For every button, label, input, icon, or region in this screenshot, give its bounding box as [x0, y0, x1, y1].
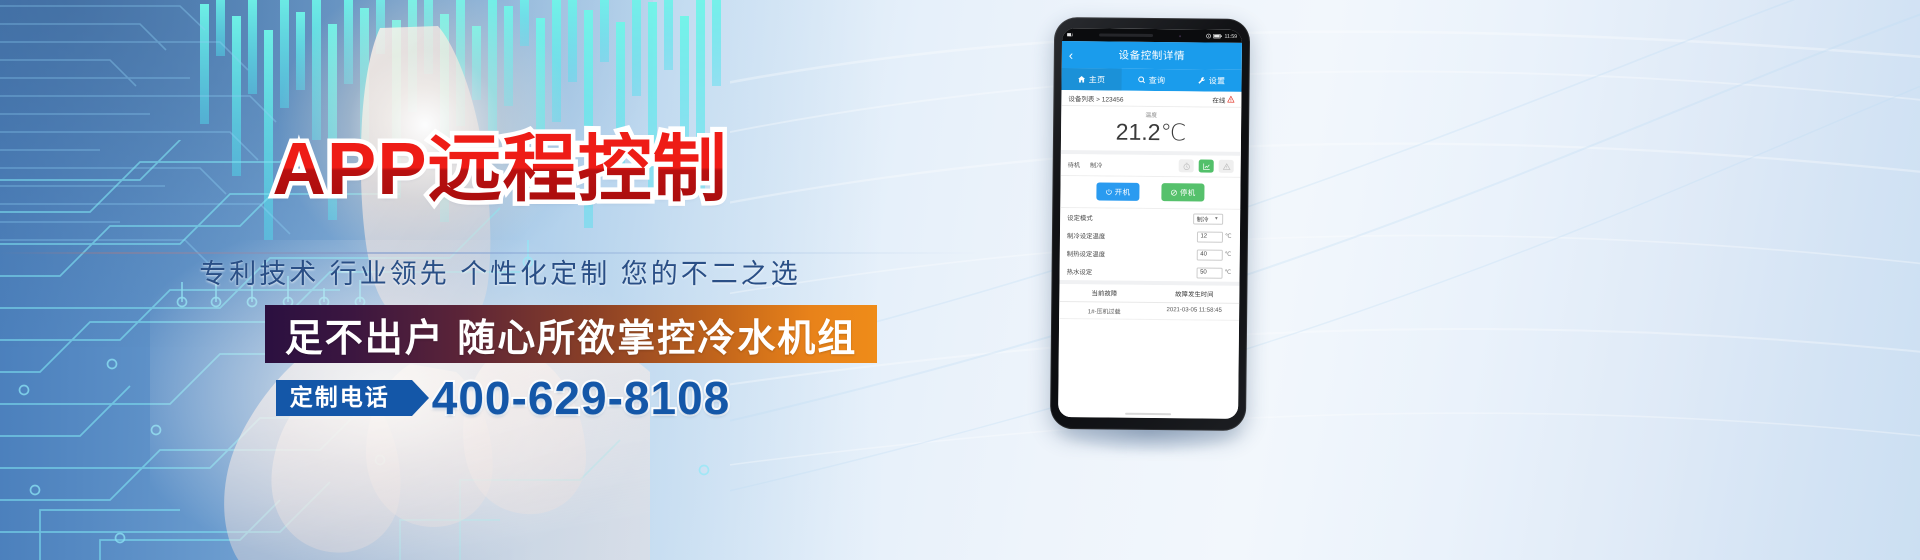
setting-row-mode: 设定模式 制冷 ▼	[1060, 208, 1240, 228]
setting-label-heat-temp: 制热设定温度	[1067, 249, 1105, 258]
run-state-label: 待机	[1068, 161, 1080, 170]
status-bar-right: 11:59	[1206, 33, 1237, 39]
phone-mockup: 11:59 ‹ 设备控制详情 主页	[1050, 17, 1254, 449]
contact-line: 定制电话 400-629-8108	[0, 375, 1000, 421]
chart-icon	[1202, 162, 1210, 170]
phone-screen: 11:59 ‹ 设备控制详情 主页	[1058, 28, 1242, 419]
power-button-row: 开机 停机	[1060, 176, 1240, 210]
tab-home-label: 主页	[1089, 74, 1106, 85]
breadcrumb: 设备列表 > 123456 在线	[1061, 90, 1241, 108]
status-bar-left	[1067, 32, 1073, 37]
chart-icon-button[interactable]	[1199, 160, 1214, 173]
breadcrumb-path[interactable]: 设备列表 > 123456	[1068, 93, 1123, 104]
ribbon-text: 足不出户 随心所欲掌控冷水机组	[285, 307, 858, 362]
setting-row-hot-water: 热水设定 50 ℃	[1059, 262, 1239, 282]
hot-water-input[interactable]: 50	[1196, 267, 1222, 278]
banner-stage: APP远程控制 APP远程控制 专利技术 行业领先 个性化定制 您的不二之选 足…	[0, 0, 1920, 560]
setting-value-heat-temp: 40 ℃	[1196, 249, 1233, 260]
battery-icon	[1213, 34, 1222, 39]
setting-value-mode: 制冷 ▼	[1193, 213, 1234, 224]
phone-tag-label: 定制电话	[276, 380, 412, 416]
fault-table: 当前故障 故障发生时间 1#-压机过载 2021-03-05 11:58:45	[1058, 284, 1239, 418]
setting-label-mode: 设定模式	[1067, 213, 1093, 222]
front-camera	[1179, 35, 1181, 37]
fault-cell-time: 2021-03-05 11:58:45	[1149, 307, 1239, 317]
tab-settings-label: 设置	[1209, 75, 1226, 86]
tab-settings[interactable]: 设置	[1181, 69, 1241, 92]
temperature-value: 21.2℃	[1061, 118, 1241, 146]
mode-state-label: 制冷	[1090, 161, 1102, 170]
device-status: 在线	[1212, 94, 1234, 104]
search-icon	[1138, 76, 1146, 84]
mode-select-value: 制冷	[1197, 214, 1209, 223]
hot-water-unit: ℃	[1225, 270, 1233, 276]
timer-icon	[1182, 162, 1190, 170]
setting-row-heat-temp: 制热设定温度 40 ℃	[1060, 244, 1240, 264]
subtitle: 专利技术 行业领先 个性化定制 您的不二之选	[0, 252, 1000, 291]
tab-home[interactable]: 主页	[1061, 68, 1121, 91]
setting-label-hot-water: 热水设定	[1067, 267, 1093, 276]
app-bar: ‹ 设备控制详情	[1062, 41, 1242, 70]
alarm-icon-button[interactable]	[1219, 160, 1234, 173]
tab-query[interactable]: 查询	[1121, 69, 1181, 92]
table-row[interactable]: 1#-压机过载 2021-03-05 11:58:45	[1059, 302, 1239, 321]
fault-col-current: 当前故障	[1059, 288, 1149, 298]
marketing-copy: APP远程控制 APP远程控制 专利技术 行业领先 个性化定制 您的不二之选 足…	[0, 0, 1000, 560]
home-icon	[1078, 75, 1086, 83]
timer-icon-button[interactable]	[1179, 160, 1194, 173]
device-state-row: 待机 制冷	[1061, 154, 1241, 178]
phone-body: 11:59 ‹ 设备控制详情 主页	[1050, 17, 1250, 431]
chevron-left-icon[interactable]: ‹	[1069, 48, 1073, 61]
power-icon	[1105, 188, 1112, 195]
wrench-icon	[1198, 76, 1206, 84]
power-off-label: 停机	[1180, 187, 1196, 198]
highlight-ribbon: 足不出户 随心所欲掌控冷水机组	[265, 305, 877, 363]
stop-icon	[1170, 189, 1177, 196]
fault-table-header: 当前故障 故障发生时间	[1059, 284, 1239, 304]
status-badge: 在线	[1212, 94, 1225, 104]
cool-temp-unit: ℃	[1225, 234, 1233, 240]
power-off-button[interactable]: 停机	[1161, 184, 1204, 202]
alarm-icon	[1222, 163, 1230, 171]
mode-select[interactable]: 制冷 ▼	[1193, 213, 1223, 224]
power-on-label: 开机	[1115, 187, 1131, 198]
phone-earpiece	[1099, 33, 1153, 37]
signal-icon	[1067, 32, 1073, 37]
tab-query-label: 查询	[1149, 74, 1166, 85]
power-on-button[interactable]: 开机	[1096, 183, 1139, 201]
setting-value-hot-water: 50 ℃	[1196, 267, 1233, 278]
phone-number[interactable]: 400-629-8108	[432, 375, 730, 421]
app-bar-title: 设备控制详情	[1062, 47, 1242, 64]
location-icon	[1206, 34, 1211, 39]
fault-cell-name: 1#-压机过载	[1059, 306, 1149, 316]
status-bar-time: 11:59	[1224, 33, 1237, 39]
chevron-down-icon: ▼	[1214, 217, 1219, 222]
state-icon-buttons	[1179, 160, 1234, 174]
warning-triangle-icon	[1227, 96, 1234, 103]
heat-temp-input[interactable]: 40	[1196, 249, 1222, 260]
tab-bar: 主页 查询 设置	[1061, 68, 1241, 92]
temperature-card: 温度 21.2℃	[1061, 106, 1241, 156]
cool-temp-input[interactable]: 12	[1196, 231, 1222, 242]
setting-row-cool-temp: 制冷设定温度 12 ℃	[1060, 226, 1240, 246]
heat-temp-unit: ℃	[1225, 252, 1233, 258]
setting-value-cool-temp: 12 ℃	[1196, 231, 1233, 242]
fault-col-time: 故障发生时间	[1149, 289, 1239, 299]
setting-label-cool-temp: 制冷设定温度	[1067, 231, 1105, 240]
settings-form: 设定模式 制冷 ▼ 制冷设定温度 12 ℃	[1059, 208, 1240, 282]
page-title: APP远程控制	[0, 132, 1000, 206]
